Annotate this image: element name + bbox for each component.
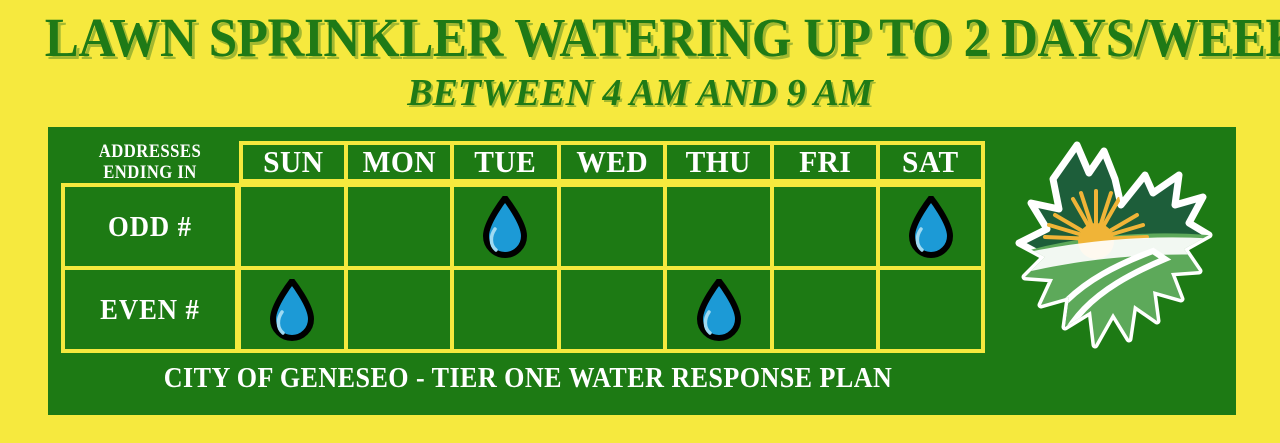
table-row-even: EVEN # — [61, 268, 985, 353]
table-row-odd: ODD # — [61, 183, 985, 268]
day-header-sun: SUN — [239, 141, 346, 183]
water-droplet-icon — [908, 196, 954, 258]
schedule-body: ODD # — [61, 183, 985, 353]
day-header-thu: THU — [665, 141, 772, 183]
page-subtitle: BETWEEN 4 AM AND 9 AM — [0, 72, 1280, 114]
leaf-logo-svg — [1003, 131, 1228, 376]
day-header-tue: TUE — [452, 141, 559, 183]
cell-odd-thu — [665, 183, 772, 268]
cell-even-mon — [346, 268, 453, 353]
day-header-wed: WED — [559, 141, 666, 183]
water-droplet-icon — [482, 196, 528, 258]
addresses-label-line1: ADDRESSES — [72, 141, 229, 162]
footer-caption: CITY OF GENESEO - TIER ONE WATER RESPONS… — [82, 363, 975, 395]
cell-even-sun — [239, 268, 346, 353]
page-title: LAWN SPRINKLER WATERING UP TO 2 DAYS/WEE… — [45, 9, 1235, 67]
day-header-sat: SAT — [878, 141, 985, 183]
cell-even-thu — [665, 268, 772, 353]
row-label-even: EVEN # — [61, 268, 239, 353]
poster-canvas: LAWN SPRINKLER WATERING UP TO 2 DAYS/WEE… — [0, 0, 1280, 443]
schedule-header: ADDRESSES ENDING IN SUN MON TUE — [61, 141, 985, 183]
green-panel: ADDRESSES ENDING IN SUN MON TUE — [48, 127, 1236, 415]
watering-schedule-table: ADDRESSES ENDING IN SUN MON TUE — [61, 141, 985, 353]
headline-block: LAWN SPRINKLER WATERING UP TO 2 DAYS/WEE… — [0, 0, 1280, 124]
cell-odd-wed — [559, 183, 666, 268]
addresses-label-line2: ENDING IN — [72, 162, 229, 183]
cell-even-wed — [559, 268, 666, 353]
cell-odd-sun — [239, 183, 346, 268]
cell-odd-mon — [346, 183, 453, 268]
water-droplet-icon — [269, 279, 315, 341]
cell-even-fri — [772, 268, 879, 353]
water-droplet-icon — [696, 279, 742, 341]
cell-odd-sat — [878, 183, 985, 268]
cell-odd-fri — [772, 183, 879, 268]
cell-even-sat — [878, 268, 985, 353]
geneseo-maple-leaf-sunrise-logo — [1003, 131, 1228, 376]
day-header-mon: MON — [346, 141, 453, 183]
cell-odd-tue — [452, 183, 559, 268]
cell-even-tue — [452, 268, 559, 353]
addresses-ending-in-label: ADDRESSES ENDING IN — [61, 141, 239, 183]
day-header-fri: FRI — [772, 141, 879, 183]
row-label-odd: ODD # — [61, 183, 239, 268]
table-header-row: ADDRESSES ENDING IN SUN MON TUE — [61, 141, 985, 183]
watering-schedule-table-wrap: ADDRESSES ENDING IN SUN MON TUE — [61, 141, 985, 353]
